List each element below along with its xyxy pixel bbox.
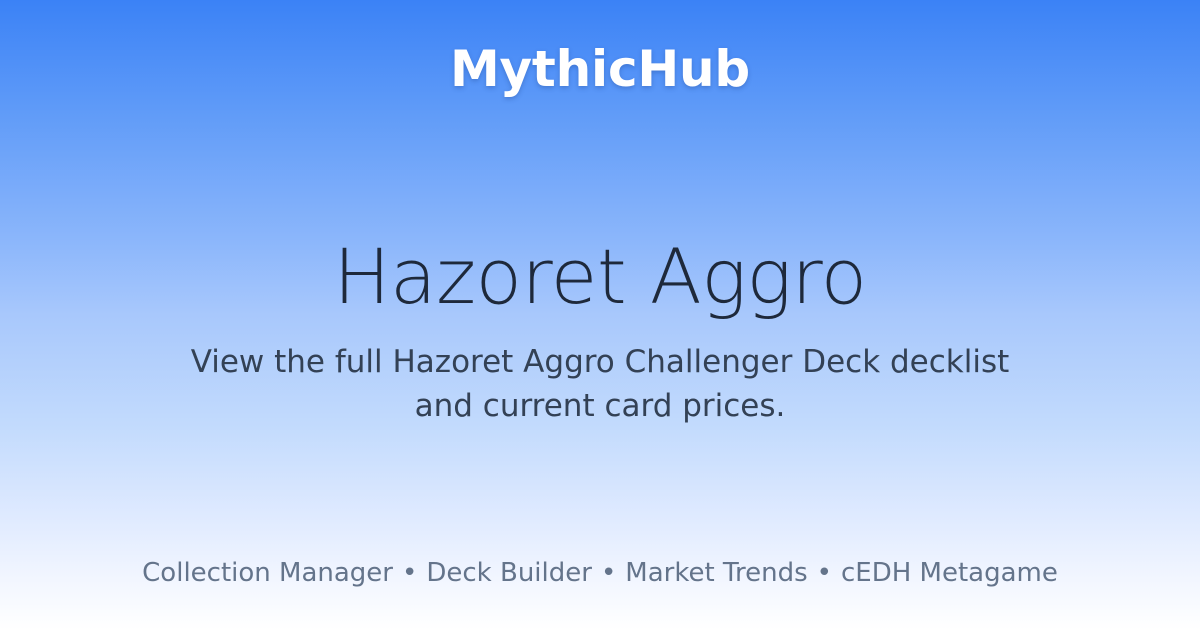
- footer-link-market-trends[interactable]: Market Trends: [625, 557, 807, 590]
- brand-header: MythicHub: [0, 44, 1200, 94]
- footer-feature-strip: Collection Manager•Deck Builder•Market T…: [0, 557, 1200, 590]
- footer-links: Collection Manager•Deck Builder•Market T…: [142, 557, 1058, 590]
- page-subtitle: View the full Hazoret Aggro Challenger D…: [191, 340, 1010, 428]
- page-subtitle-line-2: and current card prices.: [191, 384, 1010, 428]
- footer-separator-bullet-icon: •: [592, 557, 625, 590]
- footer-link-collection-manager[interactable]: Collection Manager: [142, 557, 393, 590]
- footer-separator-bullet-icon: •: [393, 557, 426, 590]
- brand-wordmark: MythicHub: [450, 44, 750, 94]
- page-subtitle-line-1: View the full Hazoret Aggro Challenger D…: [191, 340, 1010, 384]
- footer-link-cedh-metagame[interactable]: cEDH Metagame: [841, 557, 1058, 590]
- og-social-card: MythicHub Hazoret Aggro View the full Ha…: [0, 0, 1200, 630]
- footer-link-deck-builder[interactable]: Deck Builder: [426, 557, 592, 590]
- hero-section: Hazoret Aggro View the full Hazoret Aggr…: [0, 236, 1200, 428]
- footer-separator-bullet-icon: •: [808, 557, 841, 590]
- page-title: Hazoret Aggro: [333, 236, 866, 318]
